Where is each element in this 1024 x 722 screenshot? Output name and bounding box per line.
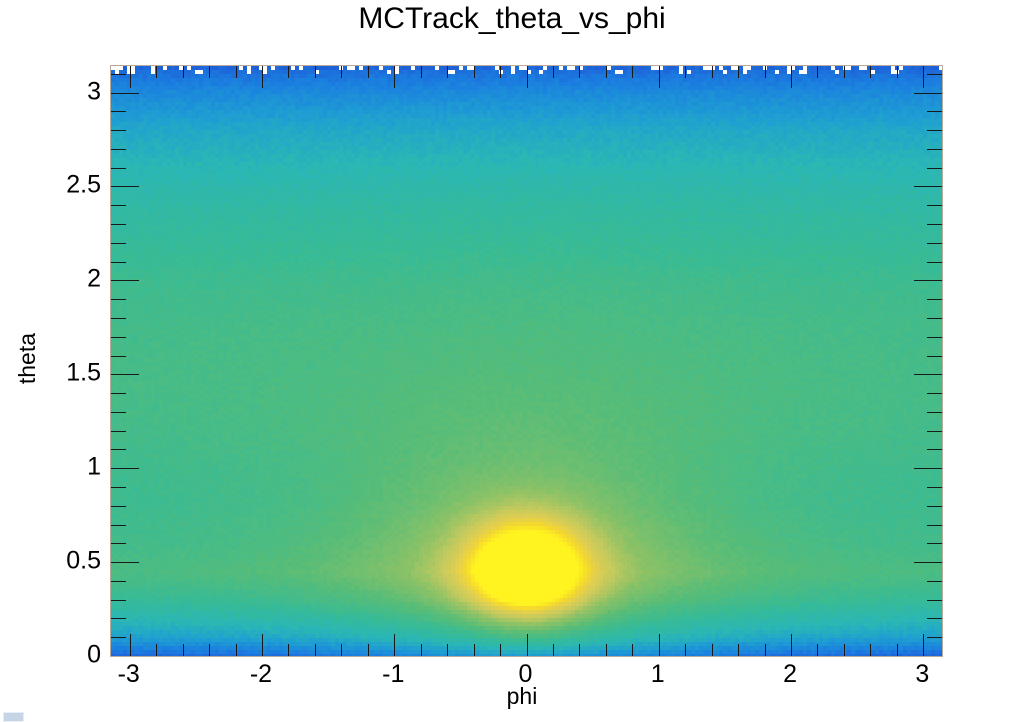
- x-tick: [183, 66, 184, 78]
- x-tick: [368, 66, 369, 78]
- x-tick: [553, 644, 554, 656]
- x-tick: [209, 66, 210, 78]
- y-tick: [111, 431, 126, 432]
- x-tick: [844, 644, 845, 656]
- y-tick: [111, 205, 126, 206]
- x-tick: [870, 66, 871, 78]
- x-tick: [738, 644, 739, 656]
- y-tick: [914, 468, 942, 469]
- y-tick: [927, 637, 942, 638]
- x-tick: [659, 634, 660, 656]
- corner-artifact: [3, 712, 24, 722]
- y-tick: [111, 224, 126, 225]
- x-tick: [262, 634, 263, 656]
- y-tick: [111, 600, 126, 601]
- x-tick: [791, 634, 792, 656]
- x-tick: [341, 66, 342, 78]
- x-tick: [844, 66, 845, 78]
- y-tick: [111, 393, 126, 394]
- x-tick: [394, 66, 395, 88]
- x-tick: [579, 644, 580, 656]
- y-tick: [111, 449, 126, 450]
- y-tick: [111, 111, 126, 112]
- x-tick: [738, 66, 739, 78]
- y-tick: [111, 562, 139, 563]
- y-tick: [111, 637, 126, 638]
- x-tick: [315, 644, 316, 656]
- x-tick: [712, 66, 713, 78]
- x-tick: [315, 66, 316, 78]
- x-tick: [474, 644, 475, 656]
- x-tick: [262, 66, 263, 88]
- y-tick: [111, 280, 139, 281]
- y-tick: [111, 374, 139, 375]
- y-tick: [111, 506, 126, 507]
- x-tick: [236, 66, 237, 78]
- x-tick: [474, 66, 475, 78]
- x-tick: [685, 644, 686, 656]
- y-tick: [927, 431, 942, 432]
- x-tick: [765, 644, 766, 656]
- y-tick: [111, 318, 126, 319]
- y-tick: [111, 487, 126, 488]
- y-tick: [111, 130, 126, 131]
- y-tick: [927, 487, 942, 488]
- x-tick: [130, 634, 131, 656]
- y-tick: [111, 74, 126, 75]
- y-tick-label: 3: [87, 77, 101, 106]
- x-tick: [156, 66, 157, 78]
- page-title: MCTrack_theta_vs_phi: [0, 2, 1024, 36]
- y-axis-title: theta: [14, 333, 41, 384]
- heatmap-image: [111, 66, 942, 656]
- y-tick: [927, 525, 942, 526]
- y-tick: [111, 581, 126, 582]
- y-tick: [927, 205, 942, 206]
- y-tick: [914, 374, 942, 375]
- x-tick: [897, 66, 898, 78]
- y-tick-label: 2: [87, 265, 101, 294]
- y-tick: [111, 468, 139, 469]
- x-tick: [447, 66, 448, 78]
- y-tick: [927, 337, 942, 338]
- y-tick: [927, 111, 942, 112]
- y-tick: [927, 74, 942, 75]
- y-tick: [111, 356, 126, 357]
- x-tick: [183, 644, 184, 656]
- x-tick: [394, 634, 395, 656]
- y-tick: [927, 149, 942, 150]
- y-tick: [111, 412, 126, 413]
- x-tick: [500, 644, 501, 656]
- x-tick: [817, 644, 818, 656]
- x-axis-title: phi: [0, 683, 1024, 710]
- x-tick: [421, 644, 422, 656]
- x-tick: [791, 66, 792, 88]
- x-tick: [288, 644, 289, 656]
- plot-frame: [110, 65, 943, 657]
- x-tick: [606, 66, 607, 78]
- x-tick: [288, 66, 289, 78]
- y-tick: [927, 262, 942, 263]
- y-tick: [927, 318, 942, 319]
- y-tick: [111, 262, 126, 263]
- x-tick: [870, 644, 871, 656]
- x-tick: [579, 66, 580, 78]
- x-tick: [421, 66, 422, 78]
- x-tick: [368, 644, 369, 656]
- y-tick: [914, 656, 942, 657]
- x-tick: [447, 644, 448, 656]
- x-tick: [659, 66, 660, 88]
- x-tick: [897, 644, 898, 656]
- y-tick: [927, 168, 942, 169]
- x-tick: [500, 66, 501, 78]
- y-tick: [111, 243, 126, 244]
- y-tick: [111, 337, 126, 338]
- x-axis-title-text: phi: [507, 683, 538, 709]
- x-tick: [236, 644, 237, 656]
- y-tick: [927, 130, 942, 131]
- y-tick: [927, 449, 942, 450]
- y-tick: [927, 356, 942, 357]
- y-tick: [111, 543, 126, 544]
- y-tick: [927, 543, 942, 544]
- x-tick: [712, 644, 713, 656]
- x-tick: [923, 66, 924, 88]
- y-tick: [111, 168, 126, 169]
- y-tick: [111, 149, 126, 150]
- y-tick-label: 2.5: [66, 171, 101, 200]
- x-tick: [923, 634, 924, 656]
- x-tick: [156, 644, 157, 656]
- y-tick: [927, 600, 942, 601]
- y-tick: [914, 280, 942, 281]
- plot-canvas: MCTrack_theta_vs_phi -3-2-10123 00.511.5…: [0, 0, 1024, 722]
- y-tick: [927, 393, 942, 394]
- x-tick: [606, 644, 607, 656]
- y-tick: [914, 93, 942, 94]
- y-tick-label: 1.5: [66, 359, 101, 388]
- y-tick: [111, 656, 139, 657]
- x-tick: [632, 66, 633, 78]
- y-tick: [927, 412, 942, 413]
- x-tick: [817, 66, 818, 78]
- y-tick: [927, 224, 942, 225]
- x-tick: [632, 644, 633, 656]
- y-tick: [914, 186, 942, 187]
- y-tick: [927, 618, 942, 619]
- y-tick: [111, 93, 139, 94]
- x-tick: [341, 644, 342, 656]
- y-tick: [927, 243, 942, 244]
- y-tick: [914, 562, 942, 563]
- y-tick: [927, 506, 942, 507]
- y-tick: [927, 299, 942, 300]
- y-tick: [111, 525, 126, 526]
- x-tick: [765, 66, 766, 78]
- y-tick-label: 1: [87, 453, 101, 482]
- y-tick: [111, 186, 139, 187]
- y-tick: [111, 618, 126, 619]
- y-tick: [111, 299, 126, 300]
- x-tick: [209, 644, 210, 656]
- x-tick: [553, 66, 554, 78]
- x-tick: [527, 66, 528, 88]
- y-tick: [927, 581, 942, 582]
- x-tick: [527, 634, 528, 656]
- x-tick: [685, 66, 686, 78]
- y-tick-label: 0.5: [66, 547, 101, 576]
- y-tick-label: 0: [87, 641, 101, 670]
- x-tick: [130, 66, 131, 88]
